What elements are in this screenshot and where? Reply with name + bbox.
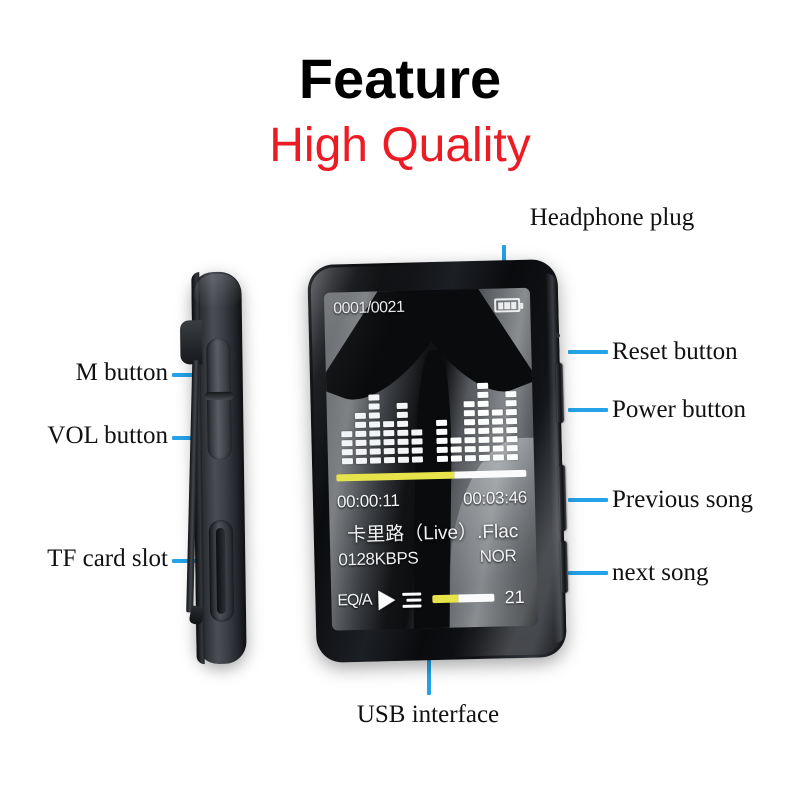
equalizer-segment: [397, 412, 408, 418]
belt-clip-hinge: [180, 320, 203, 364]
equalizer-segment: [505, 391, 516, 397]
equalizer-segment: [342, 449, 353, 455]
equalizer-segment: [369, 412, 380, 418]
equalizer-segment: [477, 392, 488, 398]
playlist-icon[interactable]: [402, 592, 421, 607]
callout-usb-interface: USB interface: [357, 700, 499, 730]
progress-fill: [336, 472, 454, 482]
equalizer-segment: [369, 430, 380, 436]
device-side-view: [179, 272, 246, 665]
equalizer-segment: [383, 430, 394, 436]
equalizer-segment: [465, 446, 476, 452]
leader-line-previous-song: [568, 498, 608, 502]
equalizer-segment: [465, 455, 476, 461]
page-subtitle: High Quality: [0, 118, 800, 174]
total-time: 00:03:46: [463, 488, 527, 510]
equalizer-segment: [492, 427, 503, 433]
equalizer-column: [368, 394, 381, 463]
equalizer-segment: [411, 429, 422, 435]
equalizer-segment: [370, 457, 381, 463]
equalizer-segment: [507, 445, 518, 451]
equalizer-segment: [450, 437, 461, 443]
callout-power-button: Power button: [612, 395, 746, 425]
equalizer-segment: [369, 403, 380, 409]
callout-reset-button: Reset button: [612, 337, 738, 367]
equalizer-segment: [369, 421, 380, 427]
equalizer-segment: [397, 421, 408, 427]
belt-clip-arm: [186, 360, 199, 612]
equalizer-segment: [506, 436, 517, 442]
equalizer-segment: [478, 419, 489, 425]
equalizer-segment: [383, 439, 394, 445]
equalizer-segment: [478, 428, 489, 434]
equalizer-column: [397, 403, 409, 463]
equalizer-segment: [437, 456, 448, 462]
tf-card-slot-opening[interactable]: [209, 520, 234, 622]
equalizer-segment: [479, 446, 490, 452]
equalizer-segment: [397, 439, 408, 445]
equalizer-segment: [398, 448, 409, 454]
equalizer-segment: [370, 448, 381, 454]
equalizer-column: [477, 383, 490, 461]
equalizer-segment: [478, 410, 489, 416]
battery-full-icon: [494, 298, 520, 313]
equalizer-visualizer: [331, 352, 530, 465]
equalizer-segment: [493, 445, 504, 451]
volume-fill: [433, 595, 459, 604]
song-title: 卡里路（Live）.Flac: [329, 516, 536, 548]
equalizer-segment: [436, 438, 447, 444]
equalizer-segment: [493, 454, 504, 460]
belt-clip: [180, 320, 206, 618]
equalizer-segment: [464, 419, 475, 425]
player-screen[interactable]: 0001/0021 00:00:11 00:03:46 卡里路（Live）.Fl…: [324, 288, 538, 631]
equalizer-segment: [368, 394, 379, 400]
elapsed-time: 00:00:11: [337, 491, 400, 513]
equalizer-segment: [384, 448, 395, 454]
player-control-bar: EQ/A 21: [337, 584, 532, 615]
equalizer-segment: [356, 458, 367, 464]
equalizer-segment: [341, 440, 352, 446]
equalizer-column: [436, 420, 448, 462]
equalizer-segment: [383, 421, 394, 427]
volume-bar[interactable]: [433, 594, 495, 604]
page-title: Feature: [0, 48, 800, 110]
playback-progress-bar[interactable]: [336, 470, 526, 482]
rocker-divider: [205, 392, 233, 400]
equalizer-segment: [384, 457, 395, 463]
equalizer-segment: [397, 403, 408, 409]
equalizer-segment: [355, 440, 366, 446]
equalizer-segment: [477, 383, 488, 389]
equalizer-segment: [411, 438, 422, 444]
volume-value: 21: [504, 586, 525, 607]
equalizer-segment: [355, 431, 366, 437]
volume-track: [459, 594, 495, 603]
leader-line-next-song: [568, 571, 608, 575]
equalizer-segment: [464, 428, 475, 434]
equalizer-column: [341, 431, 353, 464]
equalizer-column: [450, 437, 462, 461]
eq-mode-value: NOR: [480, 546, 517, 567]
equalizer-segment: [355, 413, 366, 419]
callout-m-button: M button: [76, 358, 168, 388]
feature-diagram: Feature High Quality Headphone plug M bu…: [0, 0, 800, 800]
callout-tf-card-slot: TF card slot: [47, 544, 168, 574]
meta-row: 0128KBPS NOR: [338, 546, 516, 570]
previous-song-button[interactable]: [558, 465, 567, 531]
leader-line-reset-button: [568, 350, 608, 354]
equalizer-segment: [342, 458, 353, 464]
eq-label: EQ/A: [337, 592, 372, 611]
equalizer-segment: [451, 455, 462, 461]
device-front-view: 0001/0021 00:00:11 00:03:46 卡里路（Live）.Fl…: [307, 259, 567, 663]
equalizer-segment: [437, 447, 448, 453]
equalizer-segment: [464, 437, 475, 443]
equalizer-segment: [436, 429, 447, 435]
equalizer-segment: [492, 409, 503, 415]
equalizer-column: [355, 413, 367, 464]
equalizer-segment: [506, 427, 517, 433]
equalizer-segment: [479, 455, 490, 461]
progress-track: [454, 470, 526, 479]
equalizer-column: [492, 409, 504, 460]
equalizer-column: [383, 421, 395, 463]
equalizer-column: [464, 401, 476, 461]
callout-previous-song: Previous song: [612, 485, 753, 515]
equalizer-segment: [412, 456, 423, 462]
equalizer-segment: [436, 420, 447, 426]
equalizer-column: [505, 391, 518, 460]
callout-headphone-plug: Headphone plug: [530, 203, 695, 233]
equalizer-segment: [398, 457, 409, 463]
equalizer-segment: [412, 447, 423, 453]
equalizer-group-left: [340, 393, 423, 464]
equalizer-segment: [341, 431, 352, 437]
equalizer-segment: [506, 418, 517, 424]
equalizer-segment: [478, 401, 489, 407]
equalizer-column: [411, 429, 423, 462]
next-song-button[interactable]: [560, 541, 568, 593]
equalizer-segment: [464, 401, 475, 407]
callout-vol-button: VOL button: [47, 421, 168, 451]
equalizer-segment: [507, 454, 518, 460]
equalizer-segment: [492, 418, 503, 424]
equalizer-segment: [464, 410, 475, 416]
bitrate-value: 0128KBPS: [338, 548, 418, 570]
equalizer-segment: [478, 437, 489, 443]
power-button[interactable]: [556, 363, 564, 423]
equalizer-group-right: [435, 382, 518, 462]
time-row: 00:00:11 00:03:46: [337, 488, 527, 513]
equalizer-segment: [356, 449, 367, 455]
equalizer-segment: [397, 430, 408, 436]
equalizer-segment: [506, 400, 517, 406]
callout-next-song: next song: [612, 558, 709, 588]
equalizer-segment: [492, 436, 503, 442]
play-triangle-icon[interactable]: [378, 590, 395, 610]
track-counter: 0001/0021: [333, 299, 405, 319]
equalizer-segment: [506, 409, 517, 415]
equalizer-segment: [451, 446, 462, 452]
leader-line-power-button: [568, 408, 608, 412]
equalizer-segment: [369, 439, 380, 445]
equalizer-segment: [355, 422, 366, 428]
reset-pinhole[interactable]: [555, 333, 560, 338]
